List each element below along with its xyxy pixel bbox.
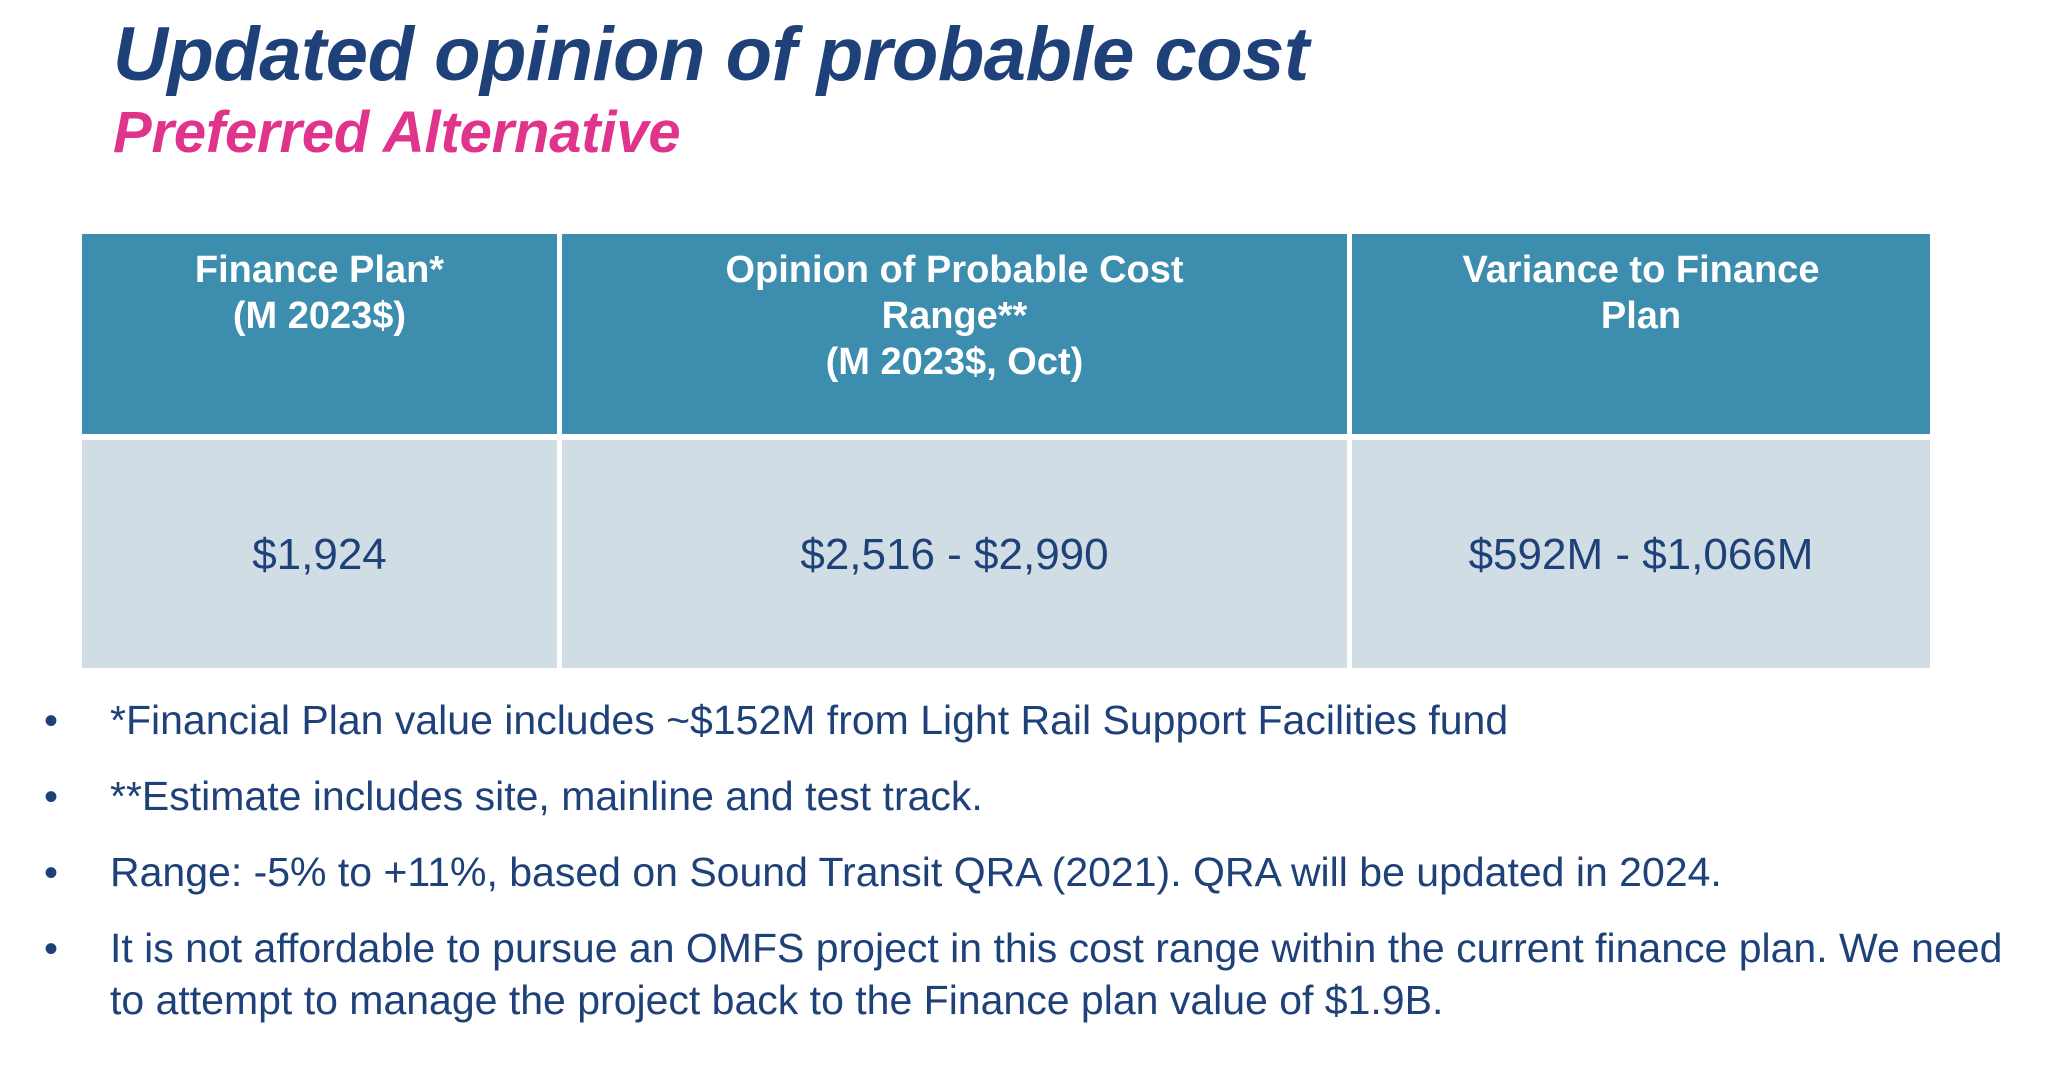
slide-canvas: Updated opinion of probable cost Preferr… <box>0 0 2048 1071</box>
table-header-opinion-line-3: (M 2023$, Oct) <box>725 339 1183 385</box>
bullet-dot-icon: • <box>30 922 110 976</box>
table-header-opinion-line-2: Range** <box>725 293 1183 339</box>
cell-opinion-of-probable-cost-range-value: $2,516 - $2,990 <box>562 440 1347 668</box>
bullet-text-4: It is not affordable to pursue an OMFS p… <box>110 922 2015 1026</box>
cell-finance-plan-value: $1,924 <box>82 440 557 668</box>
table-header-finance-plan-line-2: (M 2023$) <box>195 293 444 339</box>
bullet-list: • *Financial Plan value includes ~$152M … <box>30 694 2020 1048</box>
bullet-text-1: *Financial Plan value includes ~$152M fr… <box>110 694 2015 746</box>
table-header-finance-plan: Finance Plan* (M 2023$) <box>82 234 557 434</box>
table-header-variance-line-1: Variance to Finance <box>1463 247 1820 293</box>
cost-table: Finance Plan* (M 2023$) Opinion of Proba… <box>82 234 1925 668</box>
cell-variance-to-finance-plan-value: $592M - $1,066M <box>1352 440 1930 668</box>
table-header-finance-plan-line-1: Finance Plan* <box>195 247 444 293</box>
table-header-variance-to-finance-plan: Variance to Finance Plan <box>1352 234 1930 434</box>
page-title: Updated opinion of probable cost <box>113 12 1913 98</box>
list-item: • It is not affordable to pursue an OMFS… <box>30 922 2020 1026</box>
bullet-dot-icon: • <box>30 770 110 824</box>
bullet-text-2: **Estimate includes site, mainline and t… <box>110 770 2015 822</box>
list-item: • **Estimate includes site, mainline and… <box>30 770 2020 824</box>
bullet-text-3: Range: -5% to +11%, based on Sound Trans… <box>110 846 2015 898</box>
table-header-opinion-line-1: Opinion of Probable Cost <box>725 247 1183 293</box>
table-header-row: Finance Plan* (M 2023$) Opinion of Proba… <box>82 234 1925 434</box>
title-block: Updated opinion of probable cost Preferr… <box>113 12 1913 166</box>
bullet-dot-icon: • <box>30 846 110 900</box>
table-header-opinion-of-probable-cost-range: Opinion of Probable Cost Range** (M 2023… <box>562 234 1347 434</box>
list-item: • *Financial Plan value includes ~$152M … <box>30 694 2020 748</box>
table-row: $1,924 $2,516 - $2,990 $592M - $1,066M <box>82 440 1925 668</box>
table-header-variance-line-2: Plan <box>1463 293 1820 339</box>
page-subtitle: Preferred Alternative <box>113 100 1913 166</box>
bullet-dot-icon: • <box>30 694 110 748</box>
list-item: • Range: -5% to +11%, based on Sound Tra… <box>30 846 2020 900</box>
